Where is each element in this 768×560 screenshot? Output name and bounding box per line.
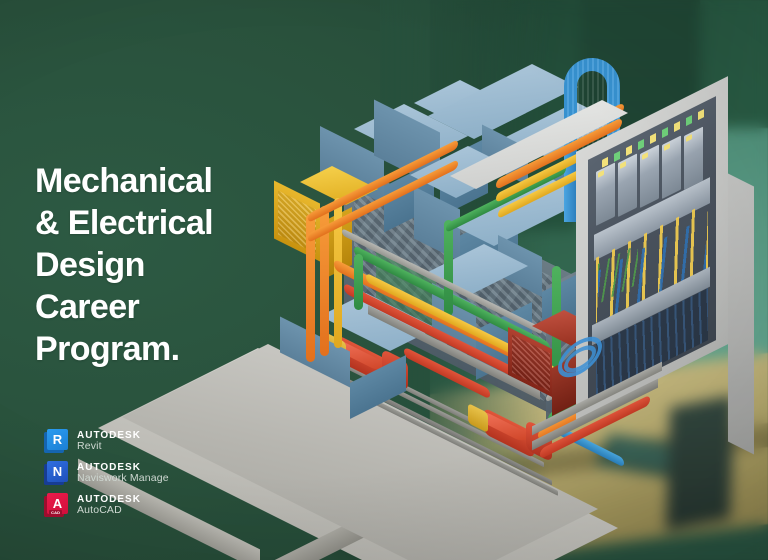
autocad-icon-subtag: CAD	[49, 510, 62, 516]
autodesk-navisworks-icon: N	[44, 461, 68, 485]
badge-text: AUTODESK Naviswork Manage	[77, 462, 169, 485]
promo-banner: Mechanical & Electrical Design Career Pr…	[0, 0, 768, 560]
revit-icon-letter: R	[47, 429, 68, 450]
headline-line-4: Career	[35, 286, 335, 328]
autodesk-revit-icon: R	[44, 429, 68, 453]
badge-product: Revit	[77, 441, 141, 453]
software-badge-revit: R AUTODESK Revit	[44, 428, 304, 454]
autodesk-autocad-icon: A CAD	[44, 493, 68, 517]
badge-product: Naviswork Manage	[77, 473, 169, 485]
software-badge-navisworks: N AUTODESK Naviswork Manage	[44, 460, 304, 486]
navisworks-icon-letter: N	[47, 461, 68, 482]
software-badge-list: R AUTODESK Revit N AUTODESK Naviswork Ma…	[44, 428, 304, 524]
page-title: Mechanical & Electrical Design Career Pr…	[35, 160, 335, 370]
badge-text: AUTODESK Revit	[77, 430, 141, 453]
headline-line-2: & Electrical	[35, 202, 335, 244]
badge-product: AutoCAD	[77, 505, 141, 517]
headline-line-3: Design	[35, 244, 335, 286]
software-badge-autocad: A CAD AUTODESK AutoCAD	[44, 492, 304, 518]
headline-line-5: Program.	[35, 328, 335, 370]
headline-line-1: Mechanical	[35, 160, 335, 202]
badge-text: AUTODESK AutoCAD	[77, 494, 141, 517]
